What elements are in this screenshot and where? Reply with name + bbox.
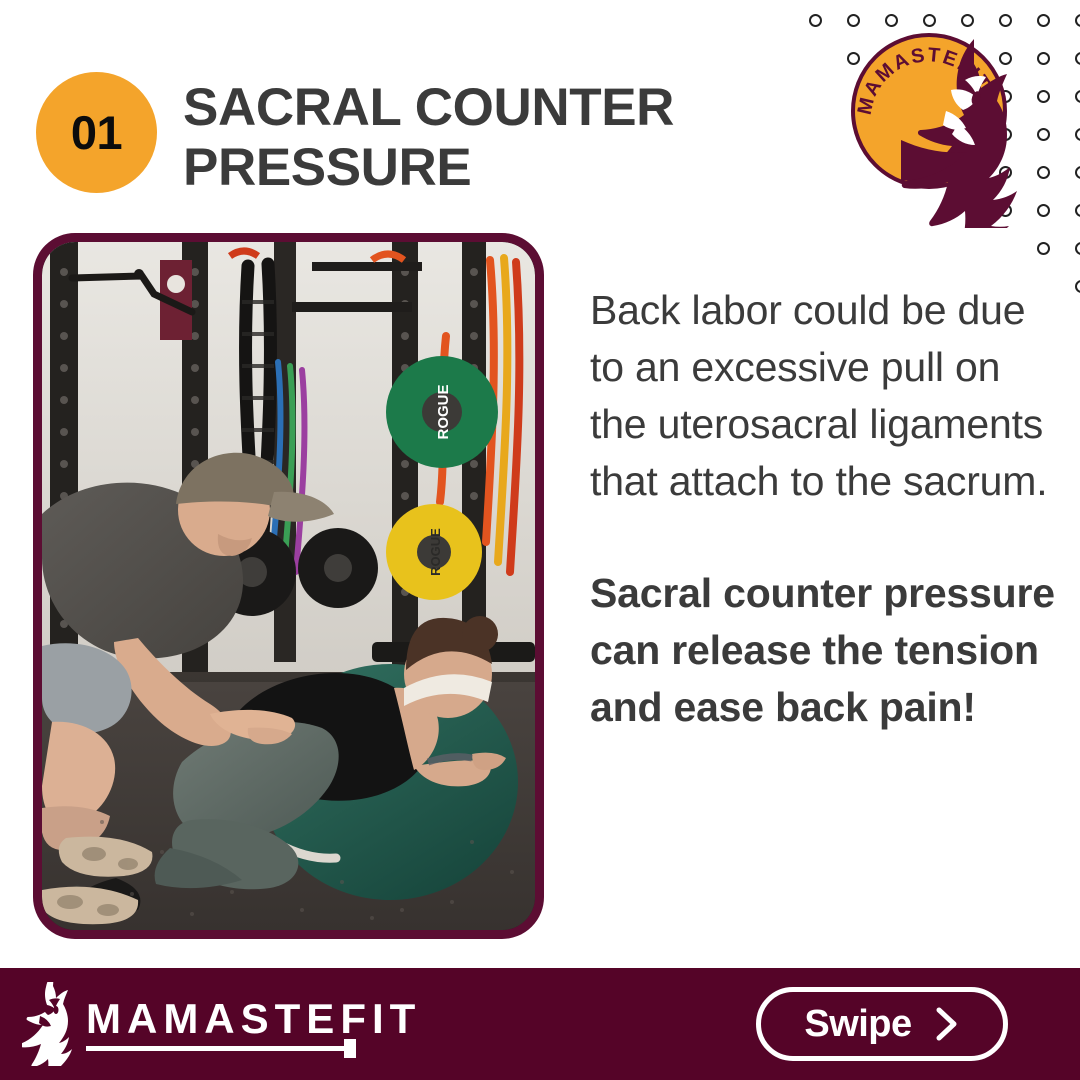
footer-wordmark-text: MAMASTEFIT: [86, 998, 421, 1040]
swipe-button-label: Swipe: [804, 1003, 911, 1046]
copy-paragraph-bold: Sacral counter pressure can release the …: [590, 565, 1060, 736]
plate-label-green: ROGUE: [435, 384, 452, 439]
dot-decoration: [1037, 166, 1050, 179]
dot-decoration: [1075, 166, 1080, 179]
dot-decoration: [1037, 242, 1050, 255]
dot-decoration: [923, 14, 936, 27]
copy-paragraph-regular: Back labor could be due to an excessive …: [590, 282, 1060, 510]
dot-decoration: [961, 14, 974, 27]
page-title: SACRAL COUNTER PRESSURE: [183, 72, 713, 199]
carousel-slide: MAMASTEFIT 01 SACRAL COUNTER PRESS: [0, 0, 1080, 1080]
dot-decoration: [999, 14, 1012, 27]
dot-decoration: [1037, 14, 1050, 27]
footer-wordmark: MAMASTEFIT: [86, 998, 421, 1051]
dot-decoration: [1037, 204, 1050, 217]
swipe-button[interactable]: Swipe: [756, 987, 1008, 1061]
dot-decoration: [809, 14, 822, 27]
owl-icon: [22, 982, 80, 1066]
dot-decoration: [1075, 242, 1080, 255]
dot-decoration: [847, 14, 860, 27]
brand-logo: MAMASTEFIT: [846, 28, 1036, 228]
photo-card: ROGUE ROGUE: [33, 233, 544, 939]
footer-brand: MAMASTEFIT: [22, 982, 421, 1066]
dot-decoration: [1037, 128, 1050, 141]
dot-decoration: [1075, 52, 1080, 65]
dot-decoration: [1075, 90, 1080, 103]
dot-decoration: [1075, 280, 1080, 293]
header-row: 01 SACRAL COUNTER PRESSURE: [36, 72, 736, 199]
step-number-label: 01: [71, 105, 122, 160]
chevron-right-icon: [934, 1007, 960, 1041]
dot-decoration: [1075, 14, 1080, 27]
exercise-photo: ROGUE ROGUE: [42, 242, 535, 930]
footer-wordmark-rule: [86, 1046, 344, 1051]
dot-decoration: [1037, 52, 1050, 65]
footer-bar: MAMASTEFIT Swipe: [0, 968, 1080, 1080]
plate-label-yellow: ROGUE: [428, 528, 443, 576]
dot-decoration: [1075, 204, 1080, 217]
step-number-badge: 01: [36, 72, 157, 193]
dot-decoration: [885, 14, 898, 27]
dot-decoration: [1075, 128, 1080, 141]
body-copy: Back labor could be due to an excessive …: [590, 282, 1060, 736]
dot-decoration: [1037, 90, 1050, 103]
